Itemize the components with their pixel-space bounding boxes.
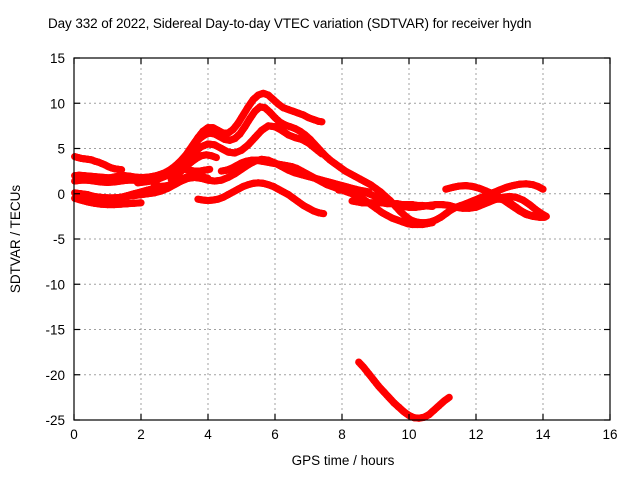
data-point	[446, 394, 453, 401]
data-point	[137, 199, 144, 206]
y-axis-title: SDTVAR / TECUs	[8, 185, 23, 294]
chart-figure: Day 332 of 2022, Sidereal Day-to-day VTE…	[0, 0, 640, 480]
y-tick-label: 15	[50, 51, 65, 66]
data-series	[194, 179, 327, 217]
y-tick-label: -15	[45, 323, 65, 338]
x-tick-label: 12	[468, 427, 483, 442]
data-point	[541, 214, 548, 221]
scatter-plot: 0246810121416-25-20-15-10-5051015 GPS ti…	[0, 0, 640, 480]
y-tick-label: 10	[50, 96, 65, 111]
data-point	[318, 150, 325, 157]
data-point	[429, 203, 436, 210]
data-point	[365, 188, 372, 195]
x-tick-label: 8	[338, 427, 346, 442]
x-tick-label: 0	[70, 427, 78, 442]
x-axis-title: GPS time / hours	[292, 453, 395, 468]
x-tick-label: 10	[401, 427, 416, 442]
data-point	[539, 186, 546, 193]
y-tick-label: 0	[57, 187, 65, 202]
y-tick-label: -5	[53, 232, 65, 247]
y-tick-label: -20	[45, 368, 65, 383]
data-point	[204, 175, 211, 182]
x-tick-label: 16	[602, 427, 617, 442]
x-tick-label: 14	[535, 427, 551, 442]
data-series	[71, 153, 125, 173]
data-point	[158, 183, 165, 190]
y-tick-label: -10	[45, 277, 65, 292]
y-tick-label: -25	[45, 413, 65, 428]
x-tick-label: 4	[204, 427, 212, 442]
data-series	[355, 358, 453, 421]
grid-lines	[74, 58, 610, 420]
x-tick-label: 6	[271, 427, 279, 442]
y-tick-label: 5	[57, 142, 65, 157]
axis-tick-labels: 0246810121416-25-20-15-10-5051015	[45, 51, 617, 442]
data-point	[318, 118, 325, 125]
data-point	[429, 219, 436, 226]
data-point	[213, 154, 220, 161]
data-point	[320, 210, 327, 217]
x-tick-label: 2	[137, 427, 145, 442]
data-point	[206, 166, 213, 173]
data-series-layer	[71, 90, 550, 422]
